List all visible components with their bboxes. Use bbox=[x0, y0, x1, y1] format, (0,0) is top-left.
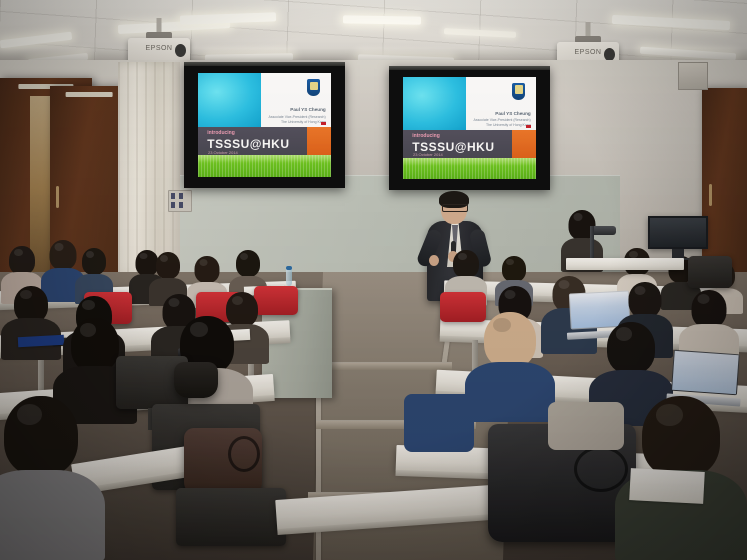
right-projection-screen: Paul YS Cheung Associate Vice-President … bbox=[389, 66, 550, 190]
window-curtain bbox=[118, 62, 180, 277]
laptop-screen bbox=[672, 351, 739, 394]
head bbox=[82, 248, 106, 275]
head bbox=[642, 396, 720, 478]
slide-presenter-role: Associate Vice-President (Research) bbox=[269, 115, 326, 119]
slide-intro-label: introducing bbox=[207, 130, 235, 136]
slide-intro-label: introducing bbox=[412, 133, 440, 139]
slide-content: Paul YS Cheung Associate Vice-President … bbox=[403, 77, 536, 179]
screen-top-bar bbox=[389, 66, 550, 70]
slide-orange-block bbox=[307, 127, 331, 155]
hku-crest-icon bbox=[512, 83, 525, 100]
audience-member-foreground bbox=[0, 396, 106, 560]
presenter-hand-left bbox=[429, 255, 439, 266]
torso bbox=[465, 362, 555, 422]
head bbox=[692, 290, 727, 328]
legs bbox=[548, 402, 624, 450]
slide-presenter-name: Paul YS Cheung bbox=[290, 107, 325, 112]
ceiling-light bbox=[343, 15, 421, 24]
backpack-strap bbox=[228, 436, 260, 472]
legs bbox=[404, 394, 474, 452]
chair-back bbox=[176, 488, 286, 546]
head bbox=[195, 256, 220, 283]
slide-presenter-name: Paul YS Cheung bbox=[495, 111, 530, 116]
audience-member bbox=[464, 312, 556, 422]
audience-member bbox=[404, 390, 474, 452]
av-console-desk bbox=[566, 258, 684, 270]
slide-institution: The University of Hong Kong bbox=[281, 120, 326, 124]
bottle-cap bbox=[286, 266, 292, 270]
power-outlets[interactable] bbox=[168, 190, 192, 212]
slide-presenter-role: Associate Vice-President (Research) bbox=[474, 118, 531, 122]
head bbox=[156, 252, 180, 279]
head bbox=[629, 282, 662, 318]
head bbox=[484, 312, 536, 368]
head bbox=[50, 240, 77, 270]
slide-orange-block bbox=[512, 130, 536, 158]
backpack-on-floor[interactable] bbox=[184, 428, 262, 496]
door-handle-icon[interactable] bbox=[709, 184, 712, 206]
left-projection-screen: Paul YS Cheung Associate Vice-President … bbox=[184, 62, 345, 188]
slide-content: Paul YS Cheung Associate Vice-President … bbox=[198, 73, 331, 177]
slide-white-block bbox=[466, 77, 536, 130]
head bbox=[236, 250, 260, 277]
laptop-lid bbox=[671, 350, 740, 395]
lecture-hall-photo: EPSON EPSON P bbox=[0, 0, 747, 560]
slide-green-band bbox=[403, 158, 536, 179]
wall-speaker bbox=[678, 62, 708, 90]
projector-lens-icon bbox=[175, 44, 186, 57]
head bbox=[453, 250, 479, 278]
head bbox=[4, 396, 78, 476]
head bbox=[71, 318, 119, 372]
chair-foreground-right[interactable] bbox=[176, 488, 286, 560]
desktop-monitor bbox=[648, 216, 708, 260]
head bbox=[9, 246, 35, 275]
screen-top-bar bbox=[184, 62, 345, 66]
hku-crest-icon bbox=[307, 79, 320, 96]
slide-green-band bbox=[198, 155, 331, 177]
hku-red-mark bbox=[526, 125, 531, 128]
chair-back bbox=[688, 256, 732, 288]
bag-under-desk bbox=[174, 362, 218, 398]
slide-cyan-block bbox=[403, 77, 466, 130]
slide-white-block bbox=[261, 73, 331, 127]
audience-member bbox=[548, 398, 624, 450]
slide-cyan-block bbox=[198, 73, 261, 127]
presenter-glasses-icon bbox=[442, 204, 468, 212]
door-handle-icon[interactable] bbox=[56, 186, 59, 208]
notes-on-desk bbox=[629, 468, 705, 504]
aisle-step bbox=[322, 362, 452, 370]
head bbox=[502, 256, 526, 282]
water-bottle bbox=[286, 266, 292, 286]
slide-institution: The University of Hong Kong bbox=[486, 123, 531, 127]
head bbox=[607, 322, 655, 374]
door-sign bbox=[66, 92, 113, 97]
monitor-screen bbox=[648, 216, 708, 249]
torso bbox=[0, 470, 105, 560]
hku-red-mark bbox=[321, 122, 326, 125]
